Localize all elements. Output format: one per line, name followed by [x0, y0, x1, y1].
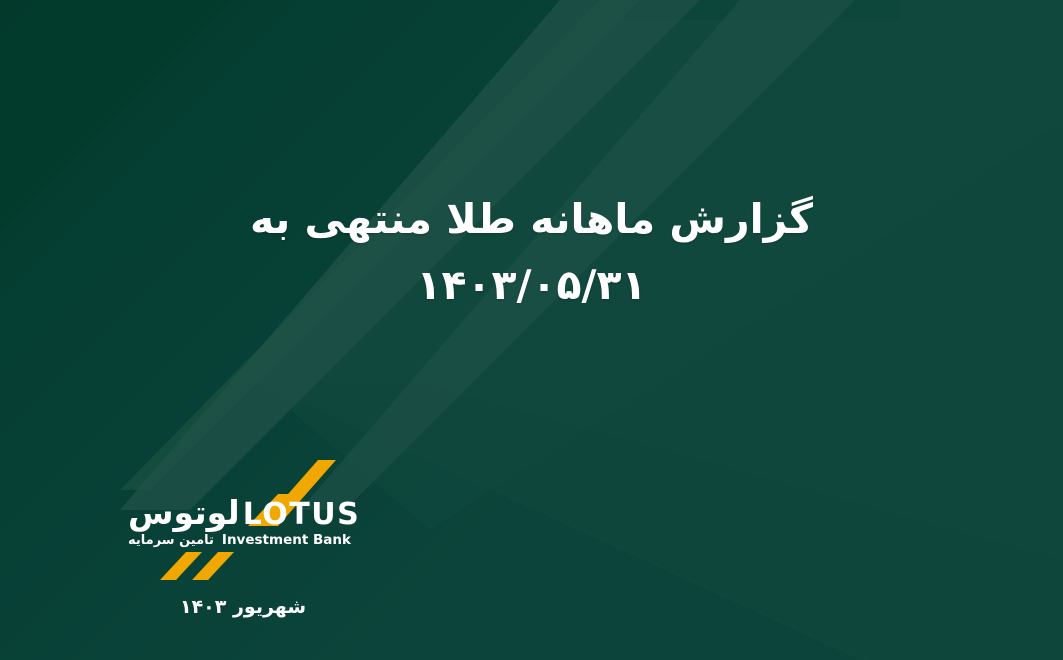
title-line-primary: گزارش ماهانه طلا منتهی به [0, 186, 1063, 252]
lotus-logo: لوتوس LOTUS تامین سرمایه Investment Bank [128, 452, 358, 582]
logo-name-row: لوتوس LOTUS [128, 496, 358, 530]
title-slide: گزارش ماهانه طلا منتهی به ۱۴۰۳/۰۵/۳۱ لوت… [0, 0, 1063, 660]
logo-tagline-en: Investment Bank [222, 532, 351, 548]
logo-wordmark: لوتوس LOTUS تامین سرمایه Investment Bank [128, 496, 358, 552]
page-title: گزارش ماهانه طلا منتهی به ۱۴۰۳/۰۵/۳۱ [0, 186, 1063, 319]
title-line-date: ۱۴۰۳/۰۵/۳۱ [0, 252, 1063, 318]
logo-name-fa: لوتوس [128, 496, 240, 530]
logo-tagline-row: تامین سرمایه Investment Bank [128, 532, 358, 548]
logo-tagline-fa: تامین سرمایه [128, 533, 214, 549]
footer-date: شهریور ۱۴۰۳ [128, 596, 358, 618]
logo-name-en: LOTUS [243, 498, 360, 532]
